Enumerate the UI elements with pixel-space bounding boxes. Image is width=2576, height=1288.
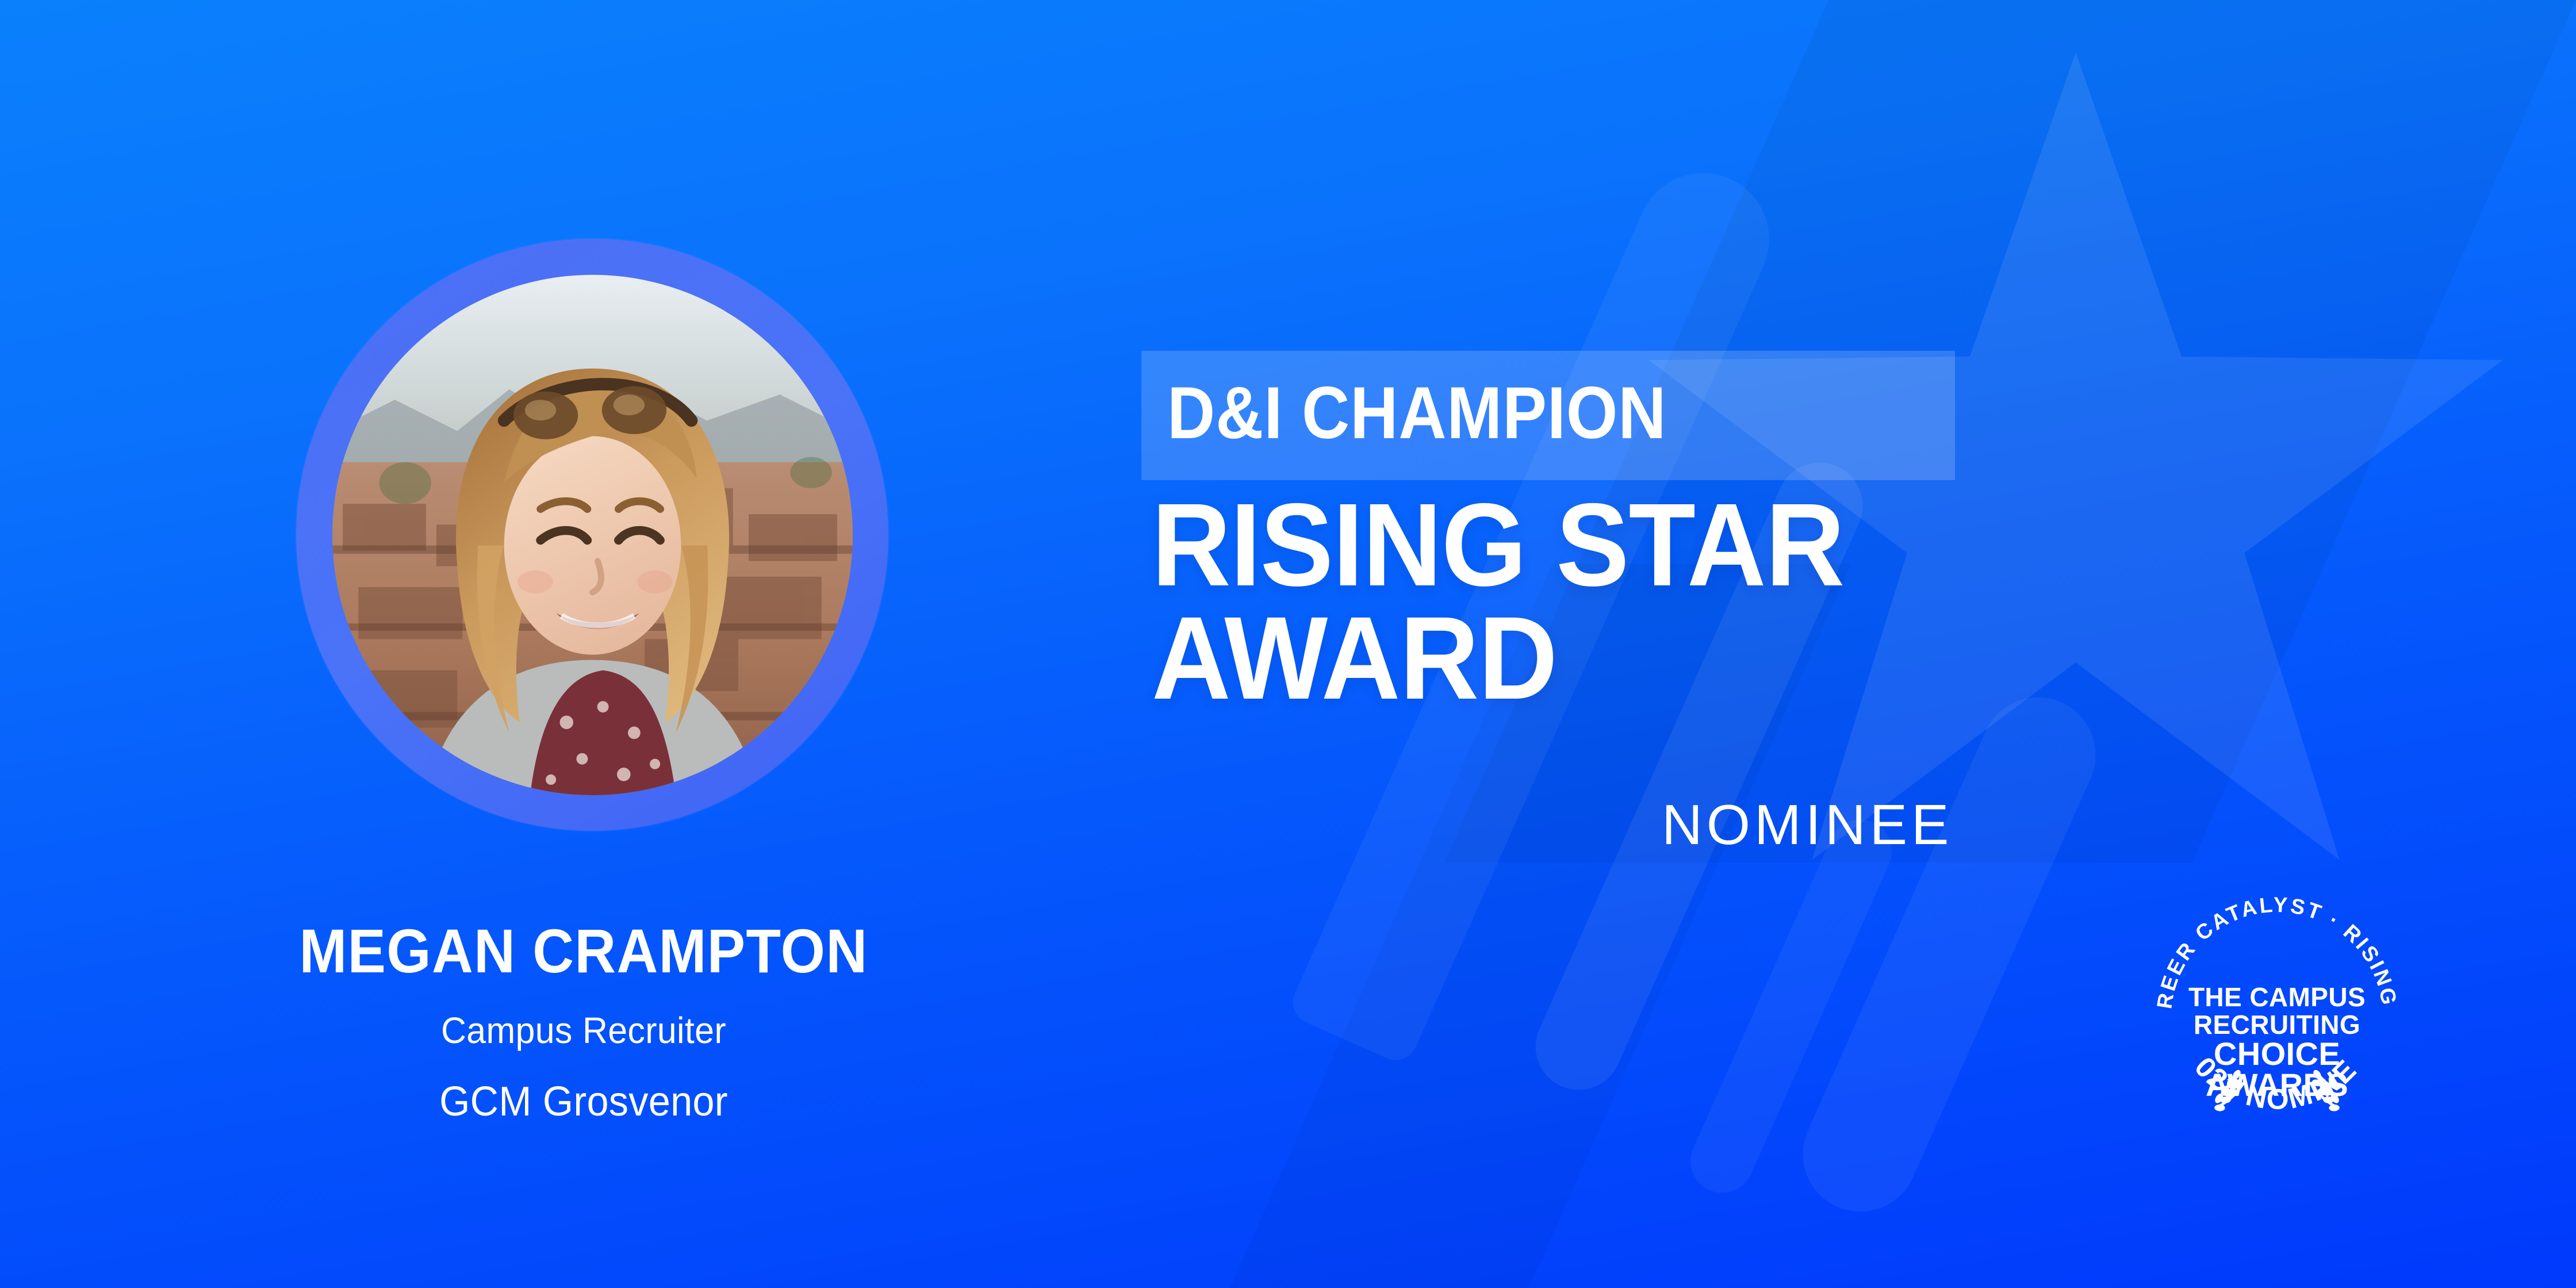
award-seal: EXCEPTIONAL LEADER · CAREER CATALYST · R… — [2150, 891, 2403, 1144]
avatar-ring — [296, 239, 888, 831]
award-nominee-card: MEGAN CRAMPTON Campus Recruiter GCM Gros… — [0, 0, 2576, 1288]
nominee-name: MEGAN CRAMPTON — [47, 920, 1121, 982]
seal-line-4: AWARDS — [2206, 1067, 2348, 1103]
nominee-role: Campus Recruiter — [29, 1012, 1138, 1049]
nominee-company: GCM Grosvenor — [29, 1081, 1138, 1122]
profile-block: MEGAN CRAMPTON Campus Recruiter GCM Gros… — [0, 0, 1092, 1288]
award-subtitle: NOMINEE — [1662, 796, 1953, 853]
seal-line-1: THE CAMPUS — [2188, 982, 2366, 1012]
avatar — [332, 275, 853, 795]
award-title: RISING STAR AWARD — [1152, 489, 1844, 715]
award-category: D&I CHAMPION — [1167, 377, 1666, 450]
